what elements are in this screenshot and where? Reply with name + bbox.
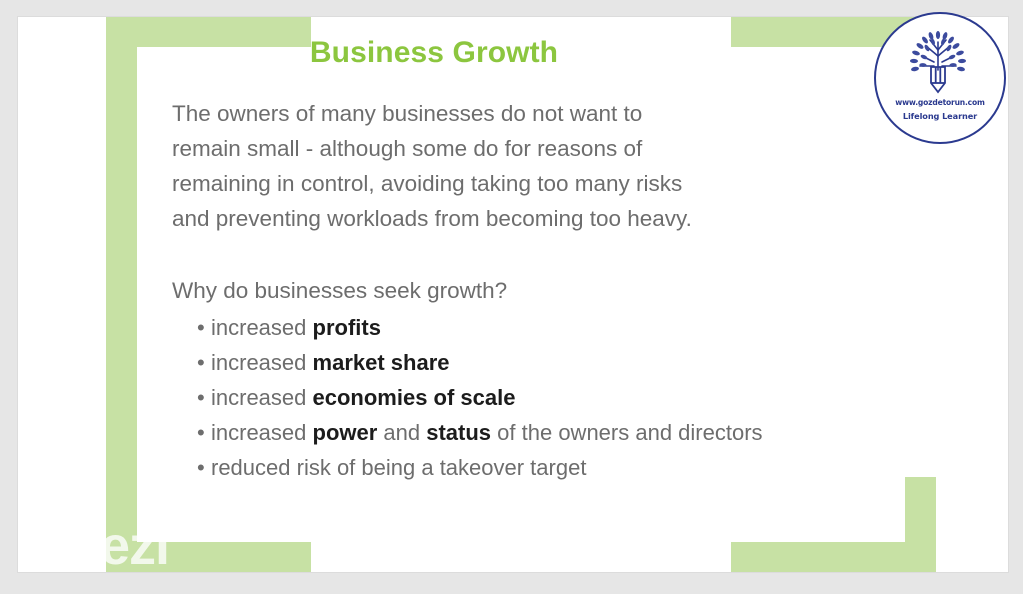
bullet-text-bold: profits <box>313 315 381 340</box>
bullet-text-bold-2: status <box>426 420 491 445</box>
bullet-marker: • <box>197 345 205 380</box>
list-item: • increased economies of scale <box>172 380 771 415</box>
slide-canvas: Business Growth The owners of many busin… <box>18 17 1008 572</box>
bullet-marker: • <box>197 450 205 485</box>
bullet-marker: • <box>197 310 205 345</box>
logo-tagline: Lifelong Learner <box>874 111 1006 121</box>
bullet-text-prefix: increased <box>211 420 313 445</box>
slide-title: Business Growth <box>137 36 731 70</box>
bullet-text-bold: economies of scale <box>313 385 516 410</box>
presentation-viewer: Business Growth The owners of many busin… <box>0 0 1023 594</box>
bullet-text-prefix: reduced risk of being a takeover target <box>211 455 586 480</box>
bullet-text-bold: market share <box>313 350 450 375</box>
bullet-marker: • <box>197 415 205 450</box>
intro-paragraph: The owners of many businesses do not wan… <box>172 96 712 236</box>
logo-url: www.gozdetorun.com <box>874 98 1006 107</box>
bullet-text-suffix: of the owners and directors <box>491 420 762 445</box>
question-line: Why do businesses seek growth? <box>172 236 732 308</box>
list-item: • increased profits <box>172 310 771 345</box>
bullet-text-bold: power <box>313 420 378 445</box>
logo-badge: www.gozdetorun.com Lifelong Learner <box>874 12 1006 144</box>
bullet-text-prefix: increased <box>211 315 313 340</box>
bullet-text-prefix: increased <box>211 385 313 410</box>
slide-content: Business Growth The owners of many busin… <box>137 17 731 572</box>
bullet-text-middle: and <box>377 420 426 445</box>
prezi-watermark: ezi <box>100 515 169 572</box>
bullet-text-prefix: increased <box>211 350 313 375</box>
slide-body: The owners of many businesses do not wan… <box>172 96 732 485</box>
list-item: • increased power and status of the owne… <box>172 415 771 450</box>
pencil-tree-icon <box>900 26 976 96</box>
list-item: • reduced risk of being a takeover targe… <box>172 450 771 485</box>
list-item: • increased market share <box>172 345 771 380</box>
frame-corner-bottom-right <box>731 477 936 572</box>
bullet-marker: • <box>197 380 205 415</box>
benefits-list: • increased profits • increased market s… <box>172 308 732 485</box>
